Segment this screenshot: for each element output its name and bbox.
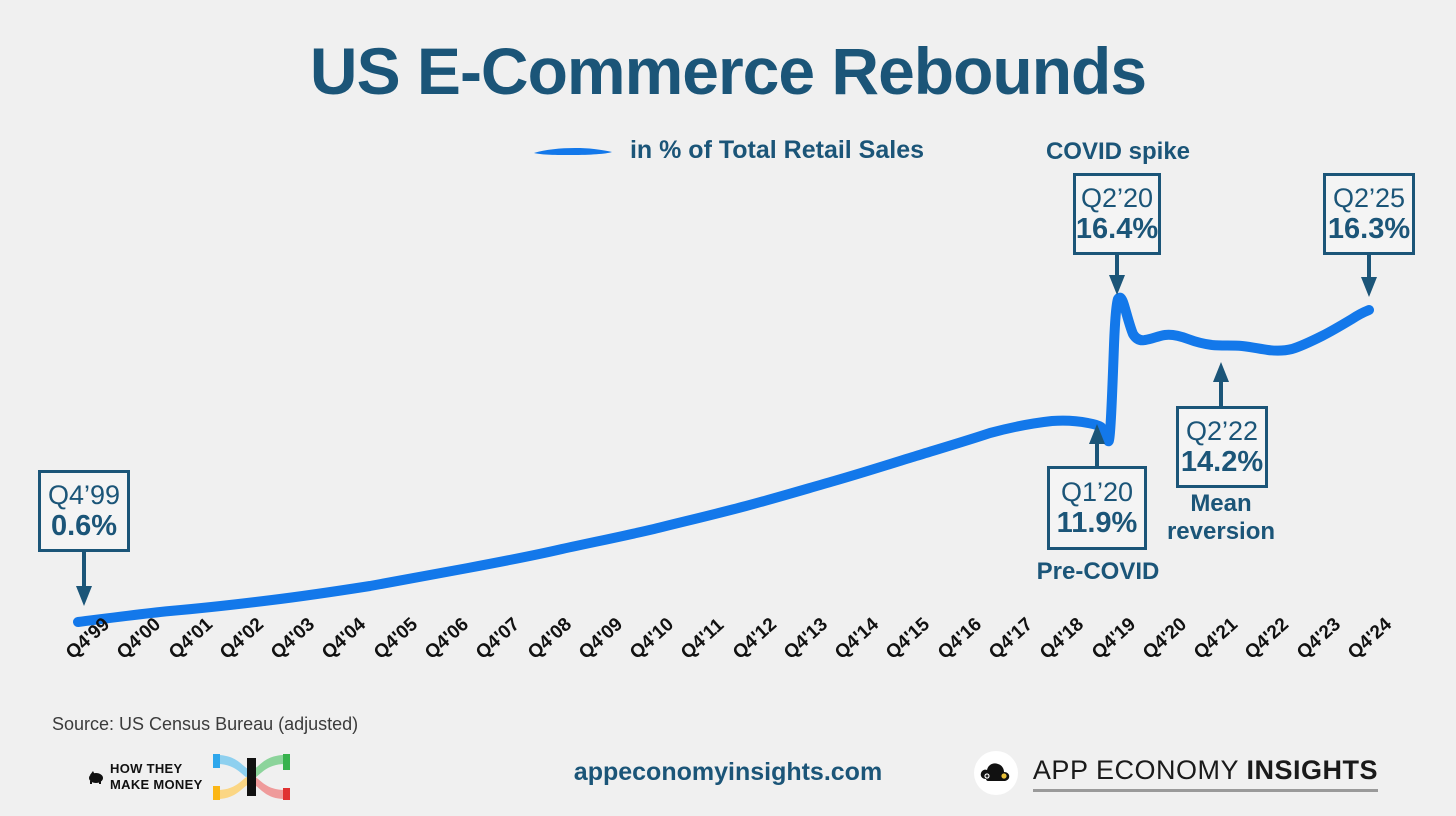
callout-value: 11.9%: [1057, 507, 1138, 539]
annotation-arrow-q225: [1361, 255, 1377, 297]
caption-mean-reversion: Mean reversion: [1128, 490, 1314, 545]
x-axis-tick-label: Q4'01: [165, 614, 218, 664]
x-axis-tick-label: Q4'05: [370, 614, 423, 664]
app-economy-insights-logo: APP ECONOMY INSIGHTS: [973, 750, 1378, 796]
callout-quarter: Q2’25: [1333, 183, 1405, 213]
x-axis-tick-label: Q4'09: [575, 614, 628, 664]
x-axis-tick-label: Q4'02: [216, 614, 269, 664]
x-axis-tick-label: Q4'15: [882, 614, 935, 664]
x-axis-tick-label: Q4'07: [472, 614, 525, 664]
x-axis-tick-label: Q4'14: [831, 614, 884, 664]
x-axis-tick-label: Q4'16: [934, 614, 987, 664]
x-axis-tick-label: Q4'03: [267, 614, 320, 664]
callout-q499: Q4’99 0.6%: [38, 470, 130, 552]
x-axis-tick-label: Q4'99: [62, 614, 115, 664]
htmm-line2: MAKE MONEY: [110, 777, 203, 793]
caption-covid-spike: COVID spike: [1020, 138, 1216, 166]
x-axis-tick-label: Q4'18: [1036, 614, 1089, 664]
annotation-arrow-q220: [1109, 255, 1125, 295]
x-axis-tick-label: Q4'13: [780, 614, 833, 664]
how-they-make-money-logo: HOW THEY MAKE MONEY: [88, 752, 293, 802]
callout-q222: Q2’22 14.2%: [1176, 406, 1268, 488]
x-axis-tick-label: Q4'12: [729, 614, 782, 664]
annotation-arrow-q120: [1089, 424, 1105, 466]
x-axis-tick-label: Q4'22: [1241, 614, 1294, 664]
callout-value: 16.4%: [1076, 213, 1158, 245]
x-axis-tick-label: Q4'24: [1344, 614, 1397, 664]
aei-light: APP ECONOMY: [1033, 755, 1247, 785]
app-economy-insights-text: APP ECONOMY INSIGHTS: [1033, 755, 1378, 792]
callout-q220: Q2’20 16.4%: [1073, 173, 1161, 255]
callout-value: 14.2%: [1181, 446, 1263, 478]
x-axis-tick-label: Q4'19: [1088, 614, 1141, 664]
callout-quarter: Q1’20: [1061, 477, 1133, 507]
callout-value: 0.6%: [51, 510, 117, 542]
cloud-piggy-icon: [973, 750, 1019, 796]
caption-pre-covid: Pre-COVID: [1000, 558, 1196, 586]
x-axis-tick-label: Q4'06: [421, 614, 474, 664]
page-title: US E-Commerce Rebounds: [0, 38, 1456, 104]
x-axis-tick-label: Q4'04: [318, 614, 371, 664]
source-note: Source: US Census Bureau (adjusted): [52, 714, 358, 735]
legend-label: in % of Total Retail Sales: [630, 136, 924, 165]
x-axis-tick-label: Q4'21: [1190, 614, 1243, 664]
x-axis-tick-label: Q4'20: [1139, 614, 1192, 664]
chart-canvas: US E-Commerce Rebounds in % of Total Ret…: [0, 0, 1456, 816]
legend-line-marker: [532, 144, 614, 158]
how-they-make-money-text: HOW THEY MAKE MONEY: [110, 761, 203, 794]
callout-quarter: Q2’22: [1186, 416, 1258, 446]
x-axis-tick-label: Q4'17: [985, 614, 1038, 664]
callout-quarter: Q2’20: [1081, 183, 1153, 213]
callout-value: 16.3%: [1328, 213, 1410, 245]
annotation-arrow-q499: [76, 552, 92, 606]
legend: in % of Total Retail Sales: [0, 136, 1456, 165]
x-axis-tick-label: Q4'10: [626, 614, 679, 664]
callout-quarter: Q4’99: [48, 480, 120, 510]
sankey-mark-icon: [209, 752, 293, 802]
x-axis-tick-label: Q4'23: [1293, 614, 1346, 664]
annotation-arrow-q222: [1213, 362, 1229, 406]
x-axis-tick-label: Q4'08: [524, 614, 577, 664]
x-axis-tick-label: Q4'00: [113, 614, 166, 664]
aei-bold: INSIGHTS: [1246, 755, 1378, 785]
callout-q225: Q2’25 16.3%: [1323, 173, 1415, 255]
htmm-line1: HOW THEY: [110, 761, 203, 777]
piggy-bank-icon: [88, 770, 104, 784]
x-axis-tick-label: Q4'11: [677, 615, 729, 665]
